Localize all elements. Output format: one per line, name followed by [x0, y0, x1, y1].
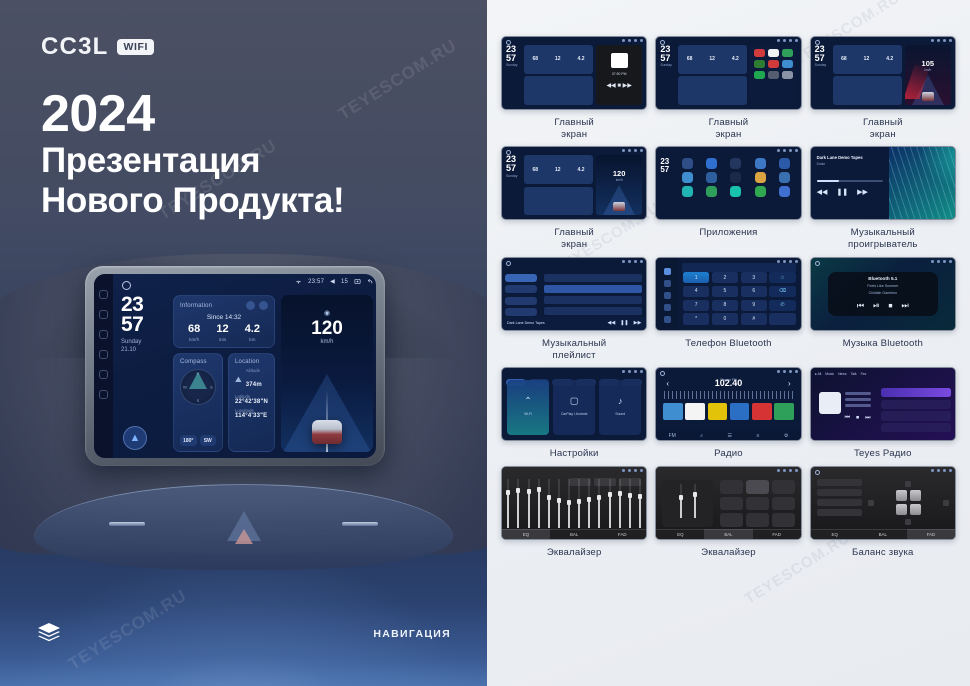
brand-bar: CC3L WIFI: [41, 33, 154, 61]
gallery-cell[interactable]: 2357Sunday 68124.2 07:50 PM ◀◀ ■ ▶▶ Глав…: [501, 36, 647, 140]
caption: Настройки: [550, 448, 599, 460]
radio-band-label: Режим FM: [656, 378, 800, 382]
tab-music[interactable]: Music: [825, 372, 834, 376]
tab-all[interactable]: ● All: [815, 372, 822, 376]
sidebar-settings-icon[interactable]: [664, 316, 671, 323]
caption: Эквалайзер: [547, 547, 602, 559]
car-model-icon: [312, 420, 342, 444]
thumb-speed-unit: km/h: [905, 68, 951, 72]
tile-sound[interactable]: ♪ Sound: [599, 380, 641, 435]
bt-music-layout: Bluetooth 5.1 Feels Like Summer Childish…: [811, 258, 955, 330]
band-slider[interactable]: [598, 479, 601, 528]
caption: Радио: [714, 448, 743, 460]
thumbnail-apps[interactable]: 2357: [655, 146, 801, 220]
information-header: Information: [180, 301, 268, 310]
tab-eq[interactable]: EQ: [811, 529, 859, 539]
compass-title: Compass: [180, 359, 216, 365]
previous-icon[interactable]: ⏮: [857, 301, 864, 311]
previous-icon[interactable]: ⏮: [845, 415, 850, 422]
stack-logo-icon: [36, 622, 62, 644]
preset-left: [817, 499, 862, 506]
next-icon[interactable]: ▶▶: [634, 320, 642, 326]
car-model-icon: [922, 92, 934, 101]
clock-date: 21.10: [121, 346, 167, 354]
band-slider[interactable]: [537, 479, 540, 528]
pause-icon[interactable]: ❚❚: [620, 320, 628, 326]
next-icon[interactable]: ▶▶: [857, 188, 868, 196]
key-9[interactable]: 9: [741, 300, 767, 311]
gallery-cell[interactable]: EQ BAL FAD Эквалайзер: [655, 466, 801, 559]
gallery-cell[interactable]: Dark Lane Demo Tapes Drake ◀◀ ❚❚ ▶▶ Муз: [810, 146, 956, 250]
arrow-right-icon[interactable]: [943, 500, 949, 506]
compass-heading: 180°: [180, 435, 197, 446]
key-8[interactable]: 8: [712, 300, 738, 311]
thumbnail-music-player[interactable]: Dark Lane Demo Tapes Drake ◀◀ ❚❚ ▶▶: [810, 146, 956, 220]
preset-button[interactable]: [720, 513, 743, 527]
caption: Музыкальныйплейлист: [542, 338, 606, 361]
key-0[interactable]: 0: [712, 313, 738, 324]
player-visualizer: [889, 147, 955, 219]
preset-rear: [817, 489, 862, 496]
player-controls[interactable]: ◀◀ ❚❚ ▶▶: [817, 188, 883, 196]
tab-fader[interactable]: FAD: [598, 529, 646, 539]
band-slider[interactable]: [588, 479, 591, 528]
gallery-cell[interactable]: Bluetooth 5.1 Feels Like Summer Childish…: [810, 257, 956, 361]
thumb-speed-value: 120: [613, 169, 626, 178]
thumb-speed: 105 km/h: [905, 59, 951, 72]
thumb-status-bar: [777, 39, 798, 42]
caption: Главныйэкран: [554, 227, 594, 250]
bt-music-card: Bluetooth 5.1 Feels Like Summer Childish…: [828, 272, 938, 317]
tab-eq[interactable]: EQ: [502, 529, 550, 539]
thumbnail-home-speed[interactable]: 2357Sunday 68124.2 120 km/h: [501, 146, 647, 220]
key-3[interactable]: 3: [741, 272, 767, 283]
list-item[interactable]: [881, 388, 951, 397]
thumb-widgets: 68124.2: [524, 45, 593, 105]
list-item[interactable]: [544, 274, 643, 282]
compass-card[interactable]: Compass N S W E: [173, 353, 223, 452]
call-icon[interactable]: ✆: [769, 300, 795, 311]
preset-button[interactable]: [772, 513, 795, 527]
thumb-widgets: 68124.2: [524, 155, 593, 215]
expand-icon[interactable]: [259, 301, 268, 310]
altitude-value: 374m: [246, 382, 262, 388]
thumbnail-equalizer-bands[interactable]: EQ BAL FAD: [501, 466, 647, 540]
band-slider[interactable]: [578, 479, 581, 528]
key-blank: [769, 313, 795, 324]
bt-track: Feels Like Summer: [867, 284, 898, 288]
thumbnail-bt-phone[interactable]: 1 2 3 ☆ 4 5 6 ⌫ 7 8 9 ✆ *: [655, 257, 801, 331]
hero-year: 2024: [41, 88, 344, 141]
preset-button[interactable]: [746, 513, 769, 527]
pause-icon[interactable]: ❚❚: [836, 188, 848, 196]
eq-toolbar[interactable]: EQ BAL FAD: [811, 529, 955, 539]
thumb-info-card: 68124.2: [833, 45, 902, 74]
thumb-speed-value: 105: [922, 59, 935, 68]
preset-5: [752, 403, 772, 420]
settings-icon[interactable]: ⚙: [784, 433, 788, 439]
stop-icon[interactable]: ⏹: [856, 415, 859, 422]
home-icon: [506, 40, 511, 45]
thumb-compass-card: [524, 76, 593, 105]
location-longitude-row: Longitude 114°4'33"E: [235, 408, 268, 419]
status-volume: 15: [341, 279, 348, 285]
gallery-cell[interactable]: Dark Lane Demo Tapes ◀◀ ❚❚ ▶▶ Музыкальны…: [501, 257, 647, 361]
compass-dial: N S W E: [180, 369, 216, 405]
thumb-status-bar: [777, 149, 798, 152]
gallery-cell[interactable]: 1 2 3 ☆ 4 5 6 ⌫ 7 8 9 ✆ *: [655, 257, 801, 361]
preset-button[interactable]: [746, 497, 769, 511]
phone-link-icon: ▢: [570, 396, 579, 407]
clock-column: 23 57 Sunday 21.10 ▲: [121, 295, 167, 452]
widgets-bottom-row: Compass N S W E: [173, 353, 275, 452]
slider-bass[interactable]: [679, 484, 682, 519]
tab-talk[interactable]: Talk: [851, 372, 857, 376]
key-6[interactable]: 6: [741, 286, 767, 297]
band-slider[interactable]: [558, 479, 561, 528]
seat-front-left: [896, 490, 907, 501]
gallery-cell[interactable]: EQ BAL FAD Баланс звука: [810, 466, 956, 559]
thumbnail-settings[interactable]: ⌃ Wi-Fi ▢ CarPlay / Android ♪ Sound: [501, 367, 647, 441]
key-1[interactable]: 1: [683, 272, 709, 283]
gallery-panel: TEYESCOM.RU TEYESCOM.RU TEYESCOM.RU 2357…: [487, 0, 970, 686]
thumb-clock: 2357Sunday: [506, 155, 521, 215]
clock-minutes: 57: [121, 315, 167, 335]
teyes-meta: ⏮ ⏹ ⏭: [845, 392, 871, 428]
gallery-cell[interactable]: 2357 Приложения: [655, 146, 801, 250]
thumbnail-home-apps[interactable]: 2357Sunday 68124.2: [655, 36, 801, 110]
sidebar-item-folders[interactable]: [505, 308, 537, 316]
home-columns: 23 57 Sunday 21.10 ▲: [121, 295, 373, 452]
radio-scale[interactable]: [664, 391, 792, 399]
compass-e: E: [210, 385, 213, 390]
thumbnail-radio[interactable]: Режим FM ‹ 102.40 ›: [655, 367, 801, 441]
caption: Музыкальныйпроигрыватель: [848, 227, 918, 250]
information-since: Since 14:32: [180, 314, 268, 321]
gallery-cell[interactable]: ● All Music News Talk Fav ⏮: [810, 367, 956, 460]
rail-menu-icon[interactable]: [99, 290, 108, 299]
teyes-tabs[interactable]: ● All Music News Talk Fav: [815, 372, 951, 376]
sidebar-item-albums[interactable]: [505, 285, 537, 293]
thumb-status-bar: [931, 39, 952, 42]
thumbnail-teyes-radio[interactable]: ● All Music News Talk Fav ⏮: [810, 367, 956, 441]
key-hash[interactable]: #: [741, 313, 767, 324]
band-sliders[interactable]: [507, 479, 641, 528]
home-icon: [815, 40, 820, 45]
now-playing-bar[interactable]: Dark Lane Demo Tapes ◀◀ ❚❚ ▶▶: [502, 317, 646, 330]
thumb-status-bar: [622, 39, 643, 42]
sidebar-contacts-icon[interactable]: [664, 280, 671, 287]
screenshot-icon[interactable]: [354, 278, 361, 285]
head-unit-screen[interactable]: 23:57 ◀ 15: [94, 274, 376, 458]
preset-button[interactable]: [720, 480, 743, 494]
thumb-widgets: 68124.2: [678, 45, 747, 105]
wifi-icon: ⌃: [524, 396, 532, 407]
back-icon[interactable]: [367, 278, 374, 285]
app-grid[interactable]: [656, 147, 800, 219]
teyes-now-playing: ⏮ ⏹ ⏭: [815, 388, 878, 432]
balance-pad[interactable]: [868, 479, 949, 527]
thumbnail-sound-balance[interactable]: EQ BAL FAD: [810, 466, 956, 540]
thumb-speed-unit: km/h: [596, 178, 642, 182]
wifi-icon: [295, 278, 302, 285]
clock-day: Sunday: [121, 338, 167, 346]
information-card[interactable]: Information Since 14:32: [173, 295, 275, 348]
stop-icon[interactable]: ⏹: [889, 301, 893, 311]
list-icon[interactable]: ☰: [728, 433, 732, 439]
band-slider[interactable]: [629, 479, 632, 528]
eq-toolbar[interactable]: EQ BAL FAD: [502, 529, 646, 539]
favorite-icon[interactable]: ☆: [769, 272, 795, 283]
thumb-drive-panel: 105 km/h: [905, 45, 951, 105]
compass-w: W: [183, 385, 187, 390]
dual-sliders[interactable]: [662, 480, 712, 527]
seat-rear-right: [910, 504, 921, 515]
hero-title: 2024 Презентация Нового Продукта!: [41, 88, 344, 221]
home-indicator-icon[interactable]: [122, 281, 131, 290]
thumb-compass-card: [678, 76, 747, 105]
gallery-cell[interactable]: EQ BAL FAD Эквалайзер: [501, 466, 647, 559]
side-button-rail[interactable]: [94, 274, 113, 458]
list-item[interactable]: [881, 400, 951, 409]
arrow-up-icon[interactable]: [905, 481, 911, 487]
preset-button[interactable]: [746, 480, 769, 494]
thumbnail-home-media[interactable]: 2357Sunday 68124.2 07:50 PM ◀◀ ■ ▶▶: [501, 36, 647, 110]
preset-1: [663, 403, 683, 420]
tile-wifi[interactable]: ⌃ Wi-Fi: [507, 380, 549, 435]
arrow-left-icon[interactable]: [868, 500, 874, 506]
player-progress[interactable]: [817, 180, 883, 182]
preset-grid[interactable]: [720, 480, 795, 527]
list-item[interactable]: [881, 423, 951, 432]
band-slider[interactable]: [527, 479, 530, 528]
list-item[interactable]: [881, 411, 951, 420]
caption: Teyes Радио: [854, 448, 912, 460]
thumb-info-card: 68124.2: [678, 45, 747, 74]
hero-panel: TEYESCOM.RU TEYESCOM.RU TEYESCOM.RU CC3L…: [0, 0, 487, 686]
bt-artist: Childish Gambino: [869, 291, 897, 295]
sidebar-item-tracks[interactable]: [505, 274, 537, 282]
caption: Главныйэкран: [863, 117, 903, 140]
dialer-layout: 1 2 3 ☆ 4 5 6 ⌫ 7 8 9 ✆ *: [656, 258, 800, 330]
gallery-cell[interactable]: 2357Sunday 68124.2 105 km/h: [810, 36, 956, 140]
caption: Музыка Bluetooth: [843, 338, 923, 350]
list-item[interactable]: [544, 307, 643, 315]
next-icon[interactable]: ⏭: [902, 301, 909, 311]
thumb-drive-panel: 120 km/h: [596, 155, 642, 215]
screenshot-grid: 2357Sunday 68124.2 07:50 PM ◀◀ ■ ▶▶ Глав…: [501, 36, 956, 559]
seat-grid: [896, 490, 921, 515]
balance-presets[interactable]: [817, 479, 862, 527]
thumb-clock: 2357Sunday: [506, 45, 521, 105]
home-layout: 2357Sunday 68124.2 120 km/h: [502, 147, 646, 219]
clock-hours: 23: [121, 295, 167, 315]
next-icon[interactable]: ⏭: [865, 415, 870, 422]
tab-fader[interactable]: FAD: [753, 529, 801, 539]
gallery-cell[interactable]: Режим FM ‹ 102.40 ›: [655, 367, 801, 460]
tab-fader[interactable]: FAD: [907, 529, 955, 539]
key-star[interactable]: *: [683, 313, 709, 324]
tab-fav[interactable]: Fav: [861, 372, 867, 376]
tile-carplay[interactable]: ▢ CarPlay / Android: [553, 380, 595, 435]
radio-presets[interactable]: [660, 403, 796, 420]
band-slider[interactable]: [608, 479, 611, 528]
stat-distance-unit: km: [245, 337, 260, 342]
previous-icon[interactable]: ◀◀: [608, 320, 616, 326]
thumb-info-card: 68124.2: [524, 155, 593, 184]
caption: Приложения: [699, 227, 757, 239]
sidebar-item-artists[interactable]: [505, 297, 537, 305]
slider-treble[interactable]: [694, 484, 697, 519]
preset-front: [817, 479, 862, 486]
tab-balance[interactable]: BAL: [550, 529, 598, 539]
band-slider[interactable]: [618, 479, 621, 528]
seat-front-right: [910, 490, 921, 501]
volume-icon: ◀: [330, 278, 335, 285]
tile-carplay-label: CarPlay / Android: [553, 412, 595, 416]
thumb-compass-card: [524, 187, 593, 216]
key-2[interactable]: 2: [712, 272, 738, 283]
stat-time-unit: min: [216, 337, 228, 342]
rail-home-icon[interactable]: [99, 310, 108, 319]
rail-power-icon[interactable]: [99, 390, 108, 399]
dialer-number-field[interactable]: [682, 263, 795, 272]
thumb-widgets: 68124.2: [833, 45, 902, 105]
tab-news[interactable]: News: [838, 372, 846, 376]
navigation-fab-button[interactable]: ▲: [123, 426, 147, 450]
eq-toolbar[interactable]: EQ BAL FAD: [656, 529, 800, 539]
compass-readout: 180° SW: [180, 435, 216, 446]
location-altitude-row: ⛰ Altitude 374m: [235, 368, 268, 391]
thumb-clock: 2357Sunday: [660, 45, 675, 105]
vent-slot-left: [109, 522, 145, 526]
preset-button[interactable]: [772, 480, 795, 494]
car-model-icon: [613, 202, 625, 211]
sidebar-keypad-icon[interactable]: [664, 268, 671, 275]
thumb-status-bar: [777, 469, 798, 472]
teyes-station-list[interactable]: [881, 388, 951, 432]
home-icon: [815, 261, 820, 266]
stat-time-value: 12: [216, 324, 228, 335]
location-card[interactable]: Location ⛰ Altitude 374m: [228, 353, 275, 452]
tab-balance[interactable]: BAL: [704, 529, 752, 539]
list-item[interactable]: [544, 285, 643, 293]
bt-title: Bluetooth 5.1: [868, 276, 897, 281]
band-slider[interactable]: [507, 479, 510, 528]
speed-readout: ◉ 120 km/h: [281, 309, 373, 345]
stat-distance-value: 4.2: [245, 324, 260, 335]
now-playing-title: Dark Lane Demo Tapes: [507, 321, 603, 325]
thumb-status-bar: [622, 149, 643, 152]
thumbnail-playlist[interactable]: Dark Lane Demo Tapes ◀◀ ❚❚ ▶▶: [501, 257, 647, 331]
thumb-clock: 2357Sunday: [815, 45, 830, 105]
speed-gauge-icon: ◉: [281, 309, 373, 317]
altitude-label: Altitude: [246, 368, 262, 373]
compass-s: S: [197, 398, 200, 403]
play-pause-icon[interactable]: ⏯: [873, 301, 879, 311]
key-7[interactable]: 7: [683, 300, 709, 311]
tile-wifi-label: Wi-Fi: [507, 412, 549, 416]
radio-toolbar[interactable]: FM ⌕ ☰ ≡ ⚙: [656, 431, 800, 440]
tab-balance[interactable]: BAL: [859, 529, 907, 539]
stat-speed-value: 68: [188, 324, 200, 335]
caption: Баланс звука: [852, 547, 914, 559]
search-icon[interactable]: ⌕: [700, 433, 703, 439]
thumbnail-bt-music[interactable]: Bluetooth 5.1 Feels Like Summer Childish…: [810, 257, 956, 331]
rail-back-icon[interactable]: [99, 370, 108, 379]
tab-eq[interactable]: EQ: [656, 529, 704, 539]
caption: Главныйэкран: [554, 117, 594, 140]
key-5[interactable]: 5: [712, 286, 738, 297]
brand-wifi-badge: WIFI: [117, 39, 154, 56]
bt-controls[interactable]: ⏮ ⏯ ⏹ ⏭: [857, 301, 909, 311]
refresh-icon[interactable]: [246, 301, 255, 310]
teyes-controls[interactable]: ⏮ ⏹ ⏭: [845, 415, 871, 422]
stat-distance: 4.2 km: [245, 324, 260, 342]
latitude-value: 22°42'38"N: [235, 399, 268, 405]
thumb-status-bar: [622, 370, 643, 373]
eq-icon[interactable]: ≡: [757, 433, 760, 439]
band-slider[interactable]: [548, 479, 551, 528]
vent-slot-right: [342, 522, 378, 526]
band-slider[interactable]: [568, 479, 571, 528]
caption: Главныйэкран: [709, 117, 749, 140]
hero-title-line1: Презентация: [41, 141, 344, 181]
thumb-apps-panel: [750, 45, 796, 105]
key-4[interactable]: 4: [683, 286, 709, 297]
hero-title-line2: Нового Продукта!: [41, 181, 344, 221]
previous-icon[interactable]: ◀◀: [817, 188, 828, 196]
sidebar-history-icon[interactable]: [664, 304, 671, 311]
location-title: Location: [235, 359, 268, 365]
thumb-info-card: 68124.2: [524, 45, 593, 74]
list-item[interactable]: [544, 296, 643, 304]
band-slider[interactable]: [517, 479, 520, 528]
thumb-media-panel: 07:50 PM ◀◀ ■ ▶▶: [596, 45, 642, 105]
preset-button[interactable]: [720, 497, 743, 511]
backspace-icon[interactable]: ⌫: [769, 286, 795, 297]
footer-navigation-label: НАВИГАЦИЯ: [373, 628, 451, 640]
car-dashboard: 23:57 ◀ 15: [0, 248, 487, 686]
gallery-cell[interactable]: ⌃ Wi-Fi ▢ CarPlay / Android ♪ Sound Н: [501, 367, 647, 460]
location-latitude-row: Latitude 22°42'38"N: [235, 394, 268, 405]
navigation-arrow-icon: ▲: [130, 433, 141, 444]
information-title: Information: [180, 303, 212, 309]
speed-value: 120: [281, 319, 373, 338]
arrow-down-icon[interactable]: [905, 519, 911, 525]
sidebar-search-icon[interactable]: [664, 292, 671, 299]
teyes-radio-layout: ● All Music News Talk Fav ⏮: [811, 368, 955, 440]
thumbnail-home-speed-red[interactable]: 2357Sunday 68124.2 105 km/h: [810, 36, 956, 110]
thumb-status-bar: [622, 260, 643, 263]
compass-n: N: [197, 371, 200, 376]
rail-volume-icon[interactable]: [99, 330, 108, 339]
caption: Эквалайзер: [701, 547, 756, 559]
home-icon: [506, 261, 511, 266]
band-icon[interactable]: FM: [669, 433, 676, 439]
band-slider[interactable]: [639, 479, 642, 528]
preset-button[interactable]: [772, 497, 795, 511]
gallery-cell[interactable]: 2357Sunday 68124.2: [655, 36, 801, 140]
drive-view[interactable]: ◉ 120 km/h: [281, 295, 373, 452]
dialer-sidebar[interactable]: [656, 258, 678, 330]
rail-apps-icon[interactable]: [99, 350, 108, 359]
presentation-slide: TEYESCOM.RU TEYESCOM.RU TEYESCOM.RU CC3L…: [0, 0, 970, 686]
player-layout: Dark Lane Demo Tapes Drake ◀◀ ❚❚ ▶▶: [811, 147, 955, 219]
gallery-cell[interactable]: 2357Sunday 68124.2 120 km/h: [501, 146, 647, 250]
player-artist: Drake: [817, 162, 883, 166]
thumbnail-equalizer-simple[interactable]: EQ BAL FAD: [655, 466, 801, 540]
